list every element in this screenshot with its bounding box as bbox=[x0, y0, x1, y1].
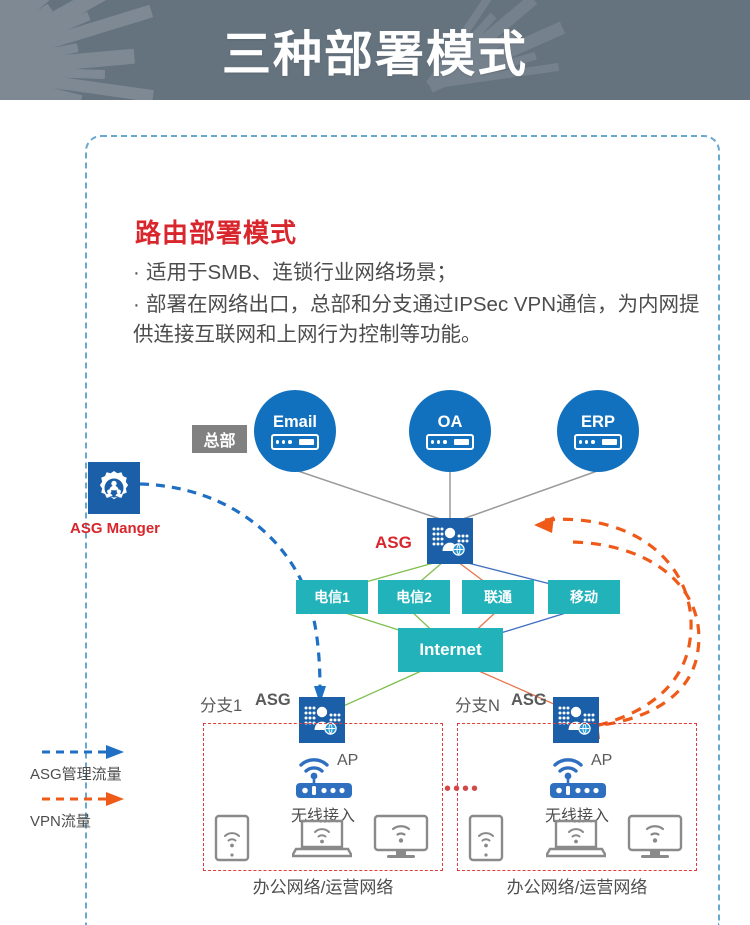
page-title: 三种部署模式 bbox=[0, 0, 750, 100]
bullet-text-1: 适用于SMB、连锁行业网络场景； bbox=[146, 261, 457, 284]
bullet-item-1: ·适用于SMB、连锁行业网络场景； bbox=[133, 258, 457, 288]
legend-label-vpn-traffic: VPN流量 bbox=[30, 810, 91, 831]
bullet-dot-icon: · bbox=[133, 258, 146, 288]
bullet-item-2: ·部署在网络出口，总部和分支通过IPSec VPN通信，为内网提供连接互联网和上… bbox=[133, 290, 718, 350]
section-title: 路由部署模式 bbox=[135, 213, 297, 250]
page-header: 三种部署模式 bbox=[0, 0, 750, 100]
content-card bbox=[85, 135, 720, 925]
bullet-text-2: 部署在网络出口，总部和分支通过IPSec VPN通信，为内网提供连接互联网和上网… bbox=[133, 293, 700, 346]
bullet-dot-icon: · bbox=[133, 290, 146, 320]
